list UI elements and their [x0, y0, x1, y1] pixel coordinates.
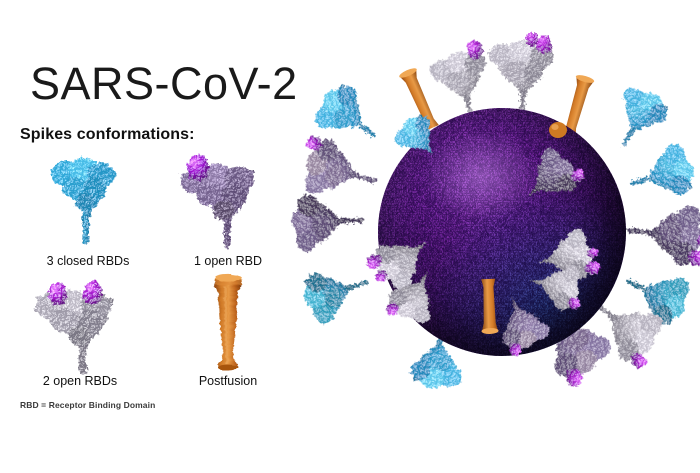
rbd-open-1 [49, 282, 67, 306]
rbd-open-2 [84, 281, 102, 305]
legend-label-two-open: 2 open RBDs [10, 374, 150, 388]
legend-item-two-open: 2 open RBDs [10, 272, 150, 377]
spike-prefusion-dark [512, 139, 588, 214]
spike-diagram-closed [18, 150, 158, 255]
m-protein [549, 122, 567, 138]
spike-closed-body [51, 158, 115, 244]
spike-prefusion-dark [491, 290, 554, 359]
spike-postfusion [480, 279, 499, 335]
spike-postfusion-body [214, 274, 242, 370]
virion-spikes-front [258, 13, 700, 473]
spike-diagram-two-open [10, 272, 150, 377]
spike-two-open-svg [10, 272, 150, 377]
footnote-abbreviation: RBD = Receptor Binding Domain [20, 400, 155, 410]
section-heading: Spikes conformations: [20, 126, 195, 144]
spike-two-open-body [35, 281, 114, 374]
legend-item-closed: 3 closed RBDs [18, 150, 158, 255]
spike-one-open-body [180, 155, 254, 248]
legend-label-closed: 3 closed RBDs [18, 254, 158, 268]
rbd-open-1 [187, 155, 209, 181]
virion-illustration [378, 108, 626, 356]
spike-prefusion-cyan [390, 109, 449, 168]
spike-closed-svg [18, 150, 158, 255]
figure-canvas: SARS-CoV-2 Spikes conformations: RBD = R… [0, 0, 700, 467]
